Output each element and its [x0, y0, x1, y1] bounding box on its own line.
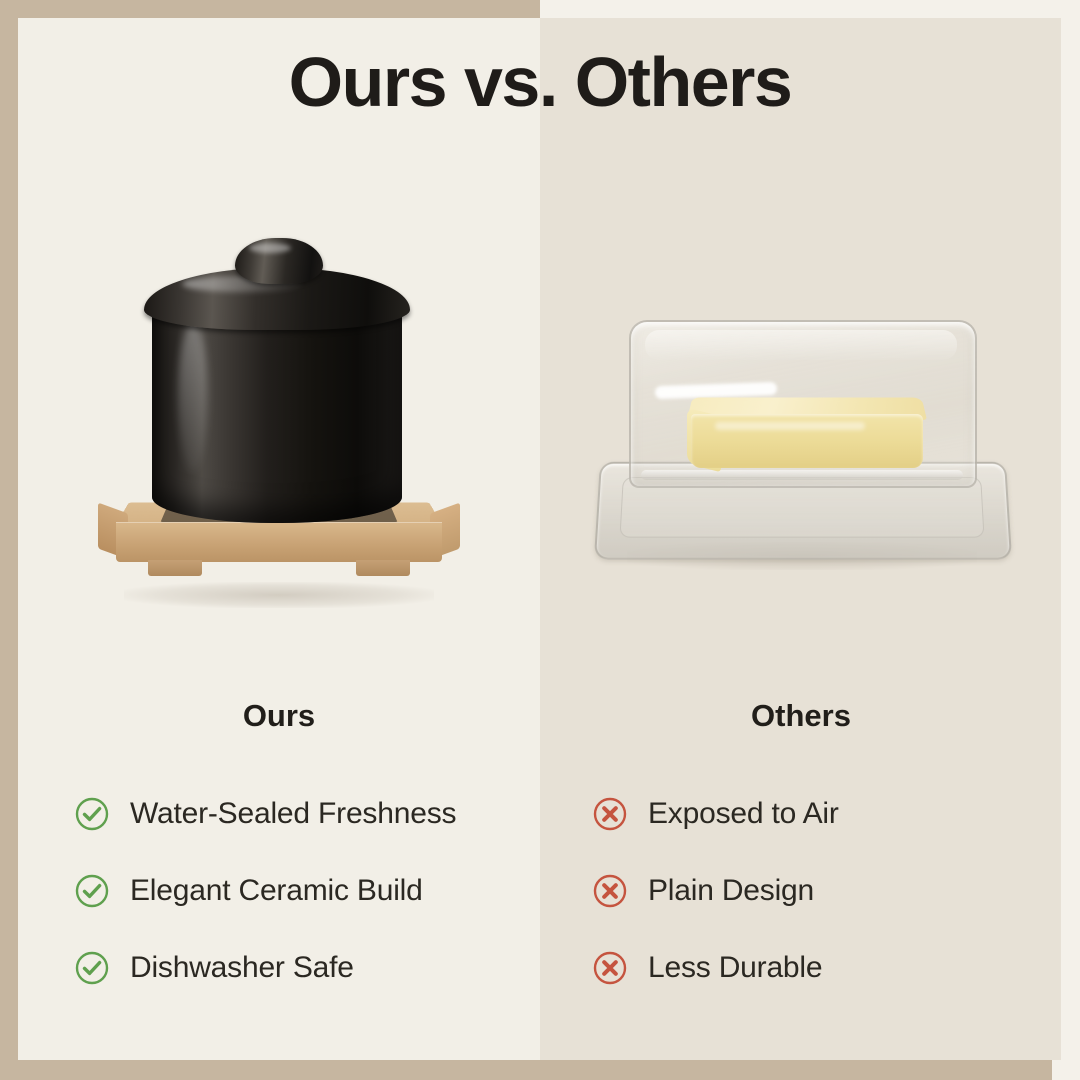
feature-label: Dishwasher Safe	[130, 951, 354, 985]
check-circle-icon	[74, 950, 110, 986]
feature-row: Water-Sealed Freshness	[74, 775, 524, 852]
cross-circle-icon	[592, 950, 628, 986]
feature-row: Dishwasher Safe	[74, 929, 524, 1006]
frame-edge-top	[540, 0, 1080, 20]
feature-label: Exposed to Air	[648, 797, 839, 831]
butter-highlight	[715, 422, 865, 430]
tray-front-edge	[116, 522, 442, 562]
tray-foot-right	[356, 560, 410, 576]
dish-lid-bottom-edge	[641, 470, 963, 480]
feature-label: Less Durable	[648, 951, 822, 985]
crock-knob-highlight	[249, 243, 291, 253]
cross-circle-icon	[592, 873, 628, 909]
crock-lid-knob	[235, 238, 323, 284]
feature-row: Elegant Ceramic Build	[74, 852, 524, 929]
tray-foot-left	[148, 560, 202, 576]
butter-stick	[687, 386, 927, 470]
column-heading-others: Others	[540, 698, 1062, 734]
page-title: Ours vs. Others	[0, 44, 1080, 121]
feature-list-ours: Water-Sealed Freshness Elegant Ceramic B…	[74, 775, 524, 1006]
feature-row: Less Durable	[592, 929, 1022, 1006]
crock-body-highlight	[178, 322, 208, 472]
crock-body	[152, 308, 402, 523]
check-circle-icon	[74, 873, 110, 909]
feature-label: Elegant Ceramic Build	[130, 874, 423, 908]
ceramic-butter-crock-illustration	[84, 220, 474, 630]
column-heading-ours: Ours	[18, 698, 540, 734]
cross-circle-icon	[592, 796, 628, 832]
dish-lid-top	[645, 330, 957, 360]
check-circle-icon	[74, 796, 110, 832]
feature-label: Water-Sealed Freshness	[130, 797, 456, 831]
feature-list-others: Exposed to Air Plain Design Less Durable	[592, 775, 1022, 1006]
product-image-ours	[18, 200, 540, 640]
feature-row: Plain Design	[592, 852, 1022, 929]
feature-label: Plain Design	[648, 874, 814, 908]
feature-row: Exposed to Air	[592, 775, 1022, 852]
comparison-graphic: Ours vs. Others	[0, 0, 1080, 1080]
clear-butter-dish-illustration	[591, 310, 1011, 590]
product-image-others	[540, 200, 1062, 640]
